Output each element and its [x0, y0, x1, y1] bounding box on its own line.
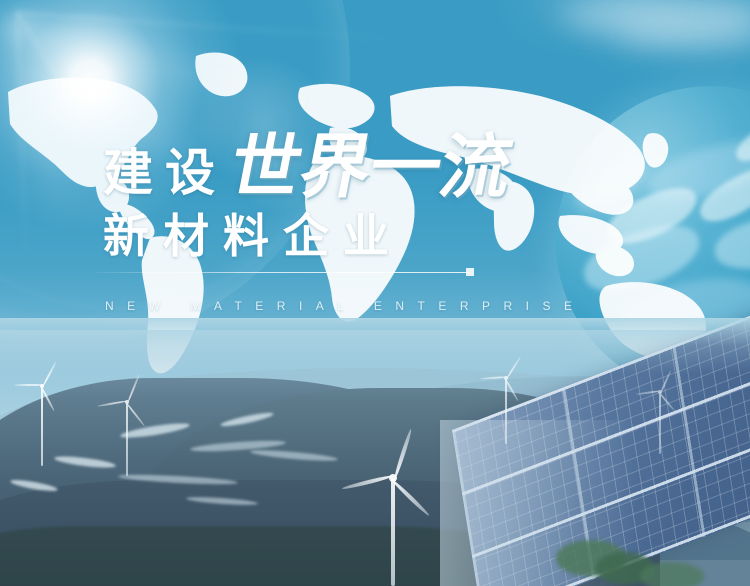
- headline-line-2: 新材料企业: [103, 213, 403, 259]
- hero-banner: 建设 世界一流 新材料企业 NEW MATERIAL ENTERPRISE: [0, 0, 750, 586]
- headline-line-1: 建设 世界一流: [103, 132, 511, 202]
- headline-divider-cap: [466, 268, 474, 276]
- headline-block: 建设 世界一流 新材料企业 NEW MATERIAL ENTERPRISE: [0, 0, 750, 586]
- headline-divider: [95, 272, 470, 273]
- headline-text-build: 建设: [103, 148, 227, 202]
- headline-text-world-class: 世界一流: [224, 132, 518, 202]
- headline-subtitle: NEW MATERIAL ENTERPRISE: [105, 300, 586, 312]
